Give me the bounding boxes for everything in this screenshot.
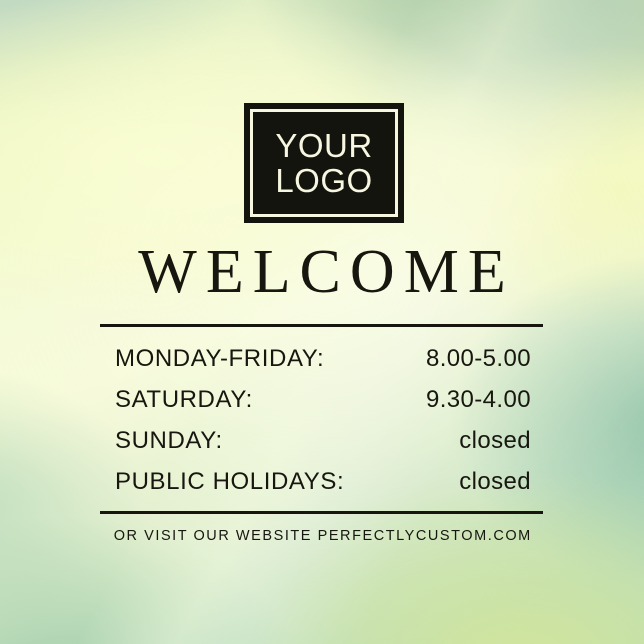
hours-day-label: PUBLIC HOLIDAYS: <box>115 468 344 496</box>
logo-inner-border: YOUR LOGO <box>250 109 398 217</box>
logo-line-2: LOGO <box>275 164 372 198</box>
table-row: PUBLIC HOLIDAYS: closed <box>115 468 531 509</box>
hours-day-label: SATURDAY: <box>115 386 253 414</box>
table-row: MONDAY-FRIDAY: 8.00-5.00 <box>115 345 531 386</box>
welcome-hours-poster: YOUR LOGO WELCOME MONDAY-FRIDAY: 8.00-5.… <box>0 0 644 644</box>
opening-hours-table: MONDAY-FRIDAY: 8.00-5.00 SATURDAY: 9.30-… <box>115 345 531 509</box>
website-footer-text: OR VISIT OUR WEBSITE PERFECTLYCUSTOM.COM <box>0 528 644 544</box>
divider-top <box>100 324 543 327</box>
hours-day-label: SUNDAY: <box>115 427 223 455</box>
table-row: SUNDAY: closed <box>115 427 531 468</box>
hours-time-value: 8.00-5.00 <box>426 345 531 373</box>
page-title: WELCOME <box>0 241 644 303</box>
hours-time-value: 9.30-4.00 <box>426 386 531 414</box>
hours-time-value: closed <box>459 468 531 496</box>
logo-placeholder-box[interactable]: YOUR LOGO <box>244 103 404 223</box>
table-row: SATURDAY: 9.30-4.00 <box>115 386 531 427</box>
poster-content: YOUR LOGO WELCOME MONDAY-FRIDAY: 8.00-5.… <box>0 0 644 644</box>
hours-day-label: MONDAY-FRIDAY: <box>115 345 324 373</box>
divider-bottom <box>100 511 543 514</box>
logo-line-1: YOUR <box>275 129 372 163</box>
hours-time-value: closed <box>459 427 531 455</box>
